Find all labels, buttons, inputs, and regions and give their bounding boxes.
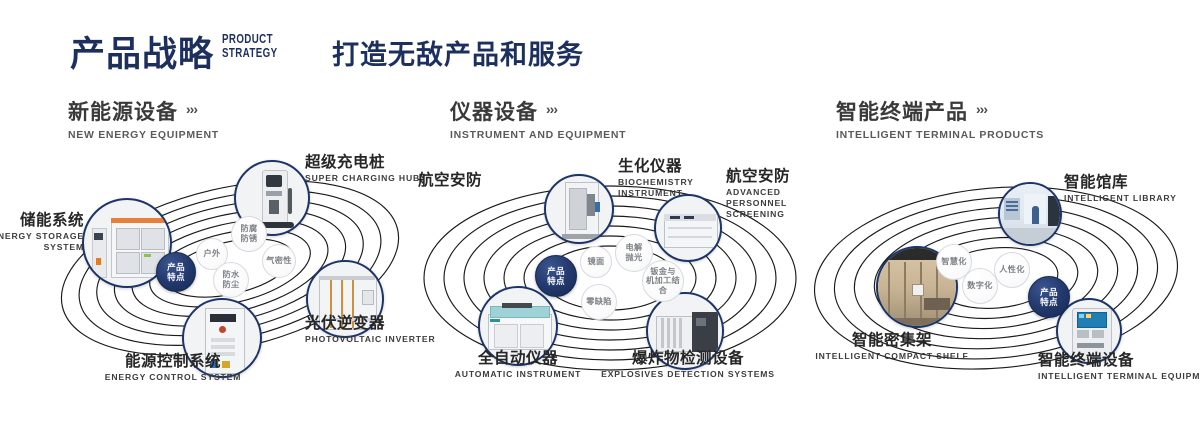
chevron-right-icon: ››› <box>976 101 987 117</box>
screening-machine-icon <box>656 196 720 260</box>
node-intelligent-library[interactable] <box>998 182 1062 246</box>
node-label-cn: 储能系统 <box>0 212 84 230</box>
feature-bubble-humanization: 人性化 <box>994 252 1030 288</box>
chevron-right-icon: ››› <box>546 101 557 117</box>
biochemistry-analyzer-icon <box>546 176 612 242</box>
feature-bubble-text: 镜面 <box>588 257 605 267</box>
feature-bubble-anti-corrosion: 防腐防锈 <box>231 216 267 252</box>
feature-bubble-airtightness: 气密性 <box>262 244 296 278</box>
node-label-en: ENERGY STORAGE SYSTEM <box>0 231 84 253</box>
core-bubble-product-features: 产品特点 <box>535 255 577 297</box>
core-bubble-product-features: 产品特点 <box>156 252 196 292</box>
cluster-instruments: 生化仪器 BIOCHEMISTRY INSTRUMENT 航空安防 航空安防 A… <box>410 150 810 410</box>
node-label-cn: 智能馆库 <box>1064 174 1177 192</box>
page-title-english-line1: PRODUCT <box>222 32 284 46</box>
feature-bubble-zero-defect: 零缺陷 <box>581 284 617 320</box>
node-label-energy-storage-system: 储能系统 ENERGY STORAGE SYSTEM <box>0 212 84 253</box>
node-label-en: ENERGY CONTROL SYSTEM <box>68 372 278 383</box>
chevron-right-icon: ››› <box>186 101 197 117</box>
cluster-intelligent-terminal: 智能馆库 INTELLIGENT LIBRARY 智能终端设备 INTELLIG… <box>800 150 1200 410</box>
feature-bubble-sheetmetal-machining: 钣金与机加工结合 <box>642 260 684 302</box>
node-label-energy-control-system: 能源控制系统 ENERGY CONTROL SYSTEM <box>68 353 278 383</box>
page-title: 产品战略 <box>70 26 214 77</box>
section-title-cn: 仪器设备 <box>450 96 538 126</box>
section-title-en: INSTRUMENT AND EQUIPMENT <box>450 129 626 141</box>
node-label-en: INTELLIGENT TERMINAL EQUIPMENT <box>1038 371 1200 382</box>
page-subtitle: 打造无敌产品和服务 <box>332 33 584 72</box>
core-bubble-text: 产品特点 <box>167 262 185 282</box>
node-label-cn: 智能终端设备 <box>1038 352 1200 370</box>
feature-bubble-text: 户外 <box>204 249 221 259</box>
node-label-en: SUPER CHARGING HUB <box>305 173 420 184</box>
node-advanced-personnel-screening[interactable] <box>654 194 722 262</box>
node-biochemistry-instrument[interactable] <box>544 174 614 244</box>
feature-bubble-text: 智慧化 <box>941 257 966 267</box>
node-label-automatic-instrument: 全自动仪器 AUTOMATIC INSTRUMENT <box>422 350 614 380</box>
feature-bubble-text: 防腐防锈 <box>241 224 258 243</box>
node-label-super-charging-hub: 超级充电桩 SUPER CHARGING HUB <box>305 154 420 184</box>
section-title-cn: 新能源设备 <box>68 96 178 126</box>
smart-library-icon <box>1000 184 1060 244</box>
core-bubble-product-features: 产品特点 <box>1028 276 1070 318</box>
section-heading-new-energy: 新能源设备››› NEW ENERGY EQUIPMENT <box>68 96 219 141</box>
node-label-intelligent-compact-shelf: 智能密集架 INTELLIGENT COMPACT SHELF <box>794 332 990 362</box>
node-label-cn: 超级充电桩 <box>305 154 420 172</box>
node-label-cn: 航空安防 <box>418 172 482 190</box>
section-title-cn: 智能终端产品 <box>836 96 968 126</box>
node-label-cn: 全自动仪器 <box>422 350 614 368</box>
node-label-cn: 爆炸物检测设备 <box>590 350 786 368</box>
section-heading-instruments: 仪器设备››› INSTRUMENT AND EQUIPMENT <box>450 96 626 141</box>
cluster-new-energy: 储能系统 ENERGY STORAGE SYSTEM 超级充电桩 SUPER C… <box>30 150 430 410</box>
node-label-cn: 生化仪器 <box>618 158 714 176</box>
node-label-intelligent-terminal-equipment: 智能终端设备 INTELLIGENT TERMINAL EQUIPMENT <box>1038 352 1200 382</box>
feature-bubble-text: 零缺陷 <box>586 297 611 307</box>
node-label-en: INTELLIGENT LIBRARY <box>1064 193 1177 204</box>
section-title-en: INTELLIGENT TERMINAL PRODUCTS <box>836 129 1044 141</box>
page-title-english: PRODUCT STRATEGY <box>222 32 284 60</box>
core-bubble-text: 产品特点 <box>1040 287 1058 307</box>
product-strategy-infographic: 产品战略 PRODUCT STRATEGY 打造无敌产品和服务 新能源设备›››… <box>0 0 1200 422</box>
feature-bubble-text: 数字化 <box>967 281 992 291</box>
feature-bubble-text: 气密性 <box>266 256 291 266</box>
node-label-aviation-security-left: 航空安防 <box>418 172 482 190</box>
feature-bubble-digitalization: 数字化 <box>962 268 998 304</box>
node-label-en: INTELLIGENT COMPACT SHELF <box>794 351 990 362</box>
node-label-explosives-detection-system: 爆炸物检测设备 EXPLOSIVES DETECTION SYSTEMS <box>590 350 786 380</box>
node-label-cn: 智能密集架 <box>794 332 990 350</box>
section-title-en: NEW ENERGY EQUIPMENT <box>68 129 219 141</box>
feature-bubble-mirror-finish: 镜面 <box>580 246 612 278</box>
core-bubble-text: 产品特点 <box>547 266 565 286</box>
node-label-cn: 能源控制系统 <box>68 353 278 371</box>
page-header: 产品战略 PRODUCT STRATEGY 打造无敌产品和服务 <box>0 0 1200 86</box>
node-label-en: AUTOMATIC INSTRUMENT <box>422 369 614 380</box>
feature-bubble-waterproof-dustproof: 防水防尘 <box>213 262 249 298</box>
feature-bubble-text: 钣金与机加工结合 <box>643 267 683 296</box>
feature-bubble-text: 人性化 <box>999 265 1024 275</box>
node-label-en: EXPLOSIVES DETECTION SYSTEMS <box>590 369 786 380</box>
feature-bubble-text: 防水防尘 <box>223 270 240 289</box>
node-label-intelligent-library: 智能馆库 INTELLIGENT LIBRARY <box>1064 174 1177 204</box>
page-title-english-line2: STRATEGY <box>222 46 284 60</box>
section-heading-intelligent-terminal: 智能终端产品››› INTELLIGENT TERMINAL PRODUCTS <box>836 96 1044 141</box>
feature-bubble-text: 电解抛光 <box>626 243 643 262</box>
node-label-biochemistry-instrument: 生化仪器 BIOCHEMISTRY INSTRUMENT <box>618 158 714 199</box>
